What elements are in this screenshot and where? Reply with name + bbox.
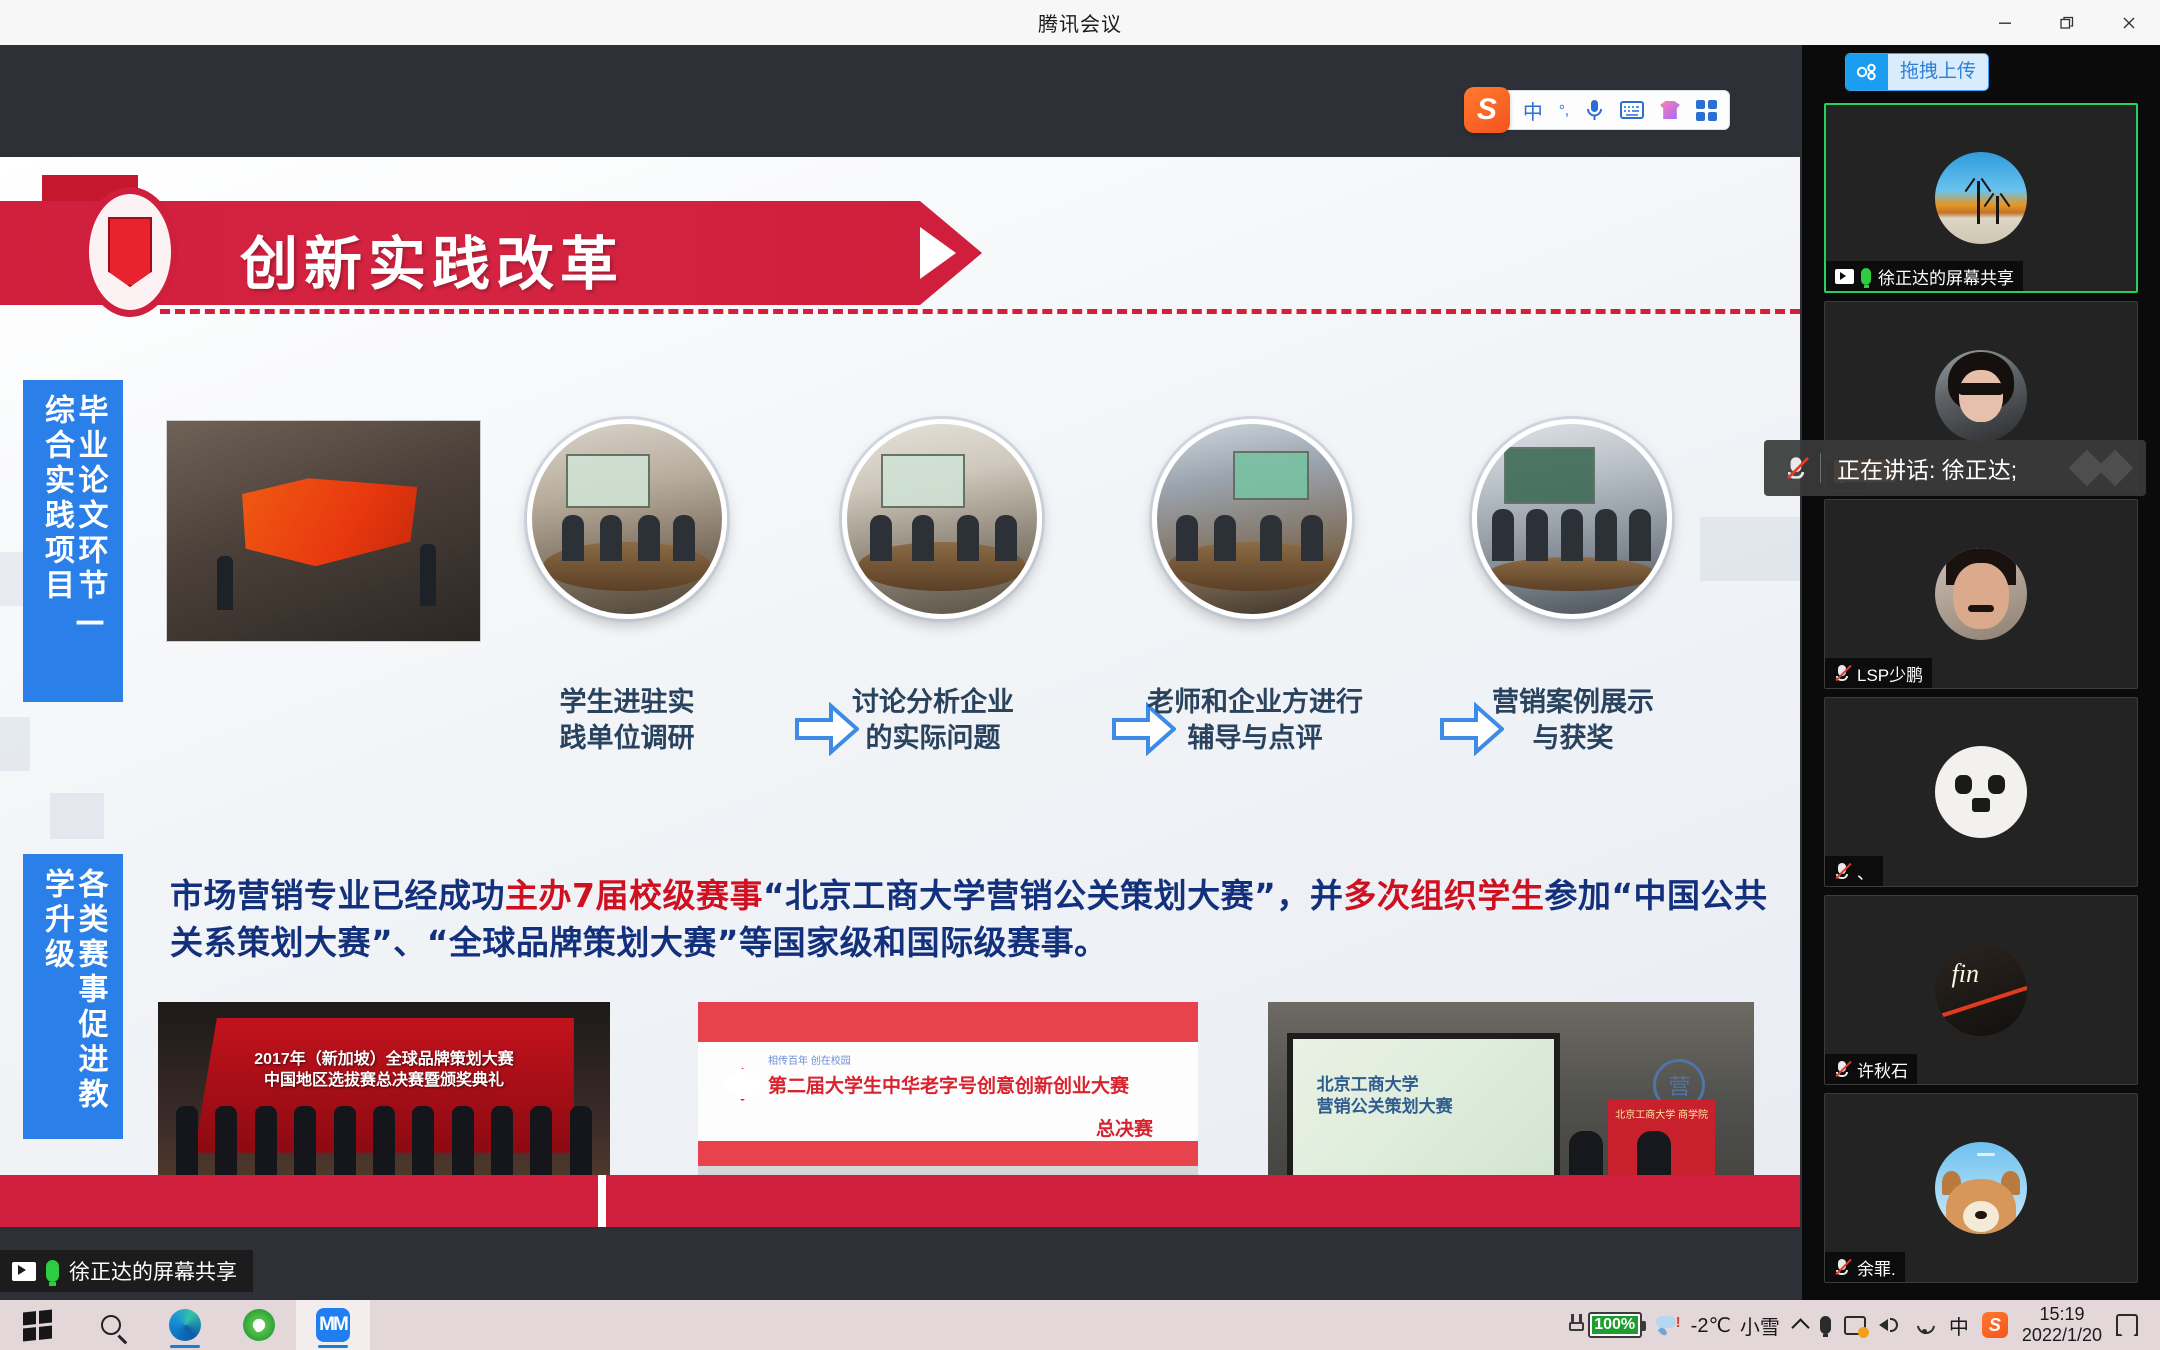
participant-nametag: LSP少鹏	[1825, 658, 1932, 688]
ime-punctuation-icon[interactable]: °,	[1559, 102, 1569, 119]
flow-step-3: 老师和企业方进行 辅导与点评	[1130, 685, 1380, 758]
edge-icon	[169, 1309, 201, 1341]
shared-screen-area[interactable]: 创新实践改革 毕业论文环节— 综合实践项目 各类赛事促进教 学升级	[0, 45, 1802, 1300]
participant-tile-5[interactable]: 余罪.	[1824, 1093, 2138, 1283]
flow-step-3-line1: 老师和企业方进行	[1130, 685, 1380, 721]
photo3-caption-line2: 营销公关策划大赛	[1317, 1096, 1453, 1118]
photo2-subtitle: 总决赛	[698, 1114, 1153, 1141]
start-button[interactable]	[0, 1300, 74, 1350]
sogou-logo-icon[interactable]: S	[1464, 87, 1510, 133]
participant-name: 许秋石	[1857, 1057, 1908, 1082]
window-title: 腾讯会议	[1038, 8, 1122, 37]
microphone-on-icon	[1861, 268, 1871, 285]
slide-footer-bar	[0, 1175, 1800, 1227]
search-button[interactable]	[74, 1300, 148, 1350]
sogou-tray-icon[interactable]: S	[1982, 1312, 2008, 1338]
flag-ceremony-photo	[166, 420, 481, 642]
battery-percent: 100%	[1594, 1316, 1635, 1334]
dashed-divider	[160, 309, 1800, 314]
circle-photo-3	[1152, 419, 1352, 619]
decor-tile	[0, 717, 30, 771]
participant-nametag: 余罪.	[1825, 1252, 1905, 1282]
close-button[interactable]	[2098, 0, 2160, 45]
photo1-caption-line2: 中国地区选拔赛总决赛暨颁奖典礼	[158, 1070, 610, 1092]
microphone-tray-icon[interactable]	[1820, 1316, 1831, 1334]
weather-description: 小雪	[1740, 1311, 1780, 1340]
ribbon-notch	[920, 227, 956, 279]
avatar	[1935, 152, 2027, 244]
circle-photo-4	[1472, 419, 1672, 619]
windows-taskbar[interactable]: MM 100% ! -2℃ 小雪	[0, 1300, 2160, 1350]
speaking-tooltip-text: 正在讲话: 徐正达;	[1837, 451, 2017, 485]
clock-date: 2022/1/20	[2022, 1325, 2102, 1346]
flow-step-1-line1: 学生进驻实	[522, 685, 732, 721]
microphone-muted-icon	[1834, 1258, 1850, 1276]
show-hidden-icons-icon[interactable]	[1791, 1318, 1809, 1336]
flow-step-4-line1: 营销案例展示	[1468, 685, 1678, 721]
ime-microphone-icon[interactable]	[1585, 99, 1604, 121]
battery-icon: 100%	[1588, 1312, 1642, 1338]
circle-photo-1	[527, 419, 727, 619]
flow-step-1: 学生进驻实 践单位调研	[522, 685, 732, 758]
taskbar-clock[interactable]: 15:19 2022/1/20	[2022, 1304, 2102, 1345]
screen-share-banner: 徐正达的屏幕共享	[0, 1250, 253, 1292]
microphone-muted-icon	[1834, 664, 1850, 682]
ime-apps-grid-icon[interactable]	[1696, 100, 1717, 121]
taskbar-app-microsoft-edge[interactable]	[148, 1300, 222, 1350]
weather-temperature: -2℃	[1691, 1313, 1731, 1338]
decor-tile	[1700, 517, 1800, 581]
ime-language-mode[interactable]: 中	[1523, 96, 1543, 125]
para-segment-1: 市场营销专业已经成功	[170, 876, 505, 915]
award-seal-icon	[82, 187, 178, 317]
avatar	[1935, 350, 2027, 442]
taskbar-app-internet-explorer[interactable]	[222, 1300, 296, 1350]
avatar	[1935, 1142, 2027, 1234]
slide-title: 创新实践改革	[240, 217, 624, 301]
microphone-muted-icon	[1785, 456, 1807, 480]
photo2-title: 第二届大学生中华老字号创意创新创业大赛	[768, 1071, 1129, 1098]
taskbar-app-tencent-meeting[interactable]: MM	[296, 1300, 370, 1350]
flow-step-4-line2: 与获奖	[1468, 721, 1678, 757]
participant-name: 徐正达的屏幕共享	[1878, 264, 2014, 289]
label-col-right: 毕业论文环节—	[74, 394, 106, 688]
audio-wave-icon	[2074, 455, 2128, 481]
screen-share-icon	[1835, 269, 1854, 284]
para-segment-2-red: 主办7届校级赛事	[505, 876, 763, 915]
drag-upload-label: 拖拽上传	[1888, 54, 1988, 90]
power-plug-icon	[1568, 1314, 1585, 1336]
microphone-muted-icon	[1834, 862, 1850, 880]
participant-name: 余罪.	[1857, 1255, 1896, 1280]
volume-icon[interactable]	[1879, 1315, 1901, 1335]
snow-cloud-icon: !	[1656, 1312, 1682, 1338]
flow-step-2-line2: 的实际问题	[828, 721, 1038, 757]
cloud-upload-icon	[1846, 54, 1888, 90]
minimize-button[interactable]	[1974, 0, 2036, 45]
system-tray[interactable]: 中 S	[1794, 1311, 2008, 1340]
window-titlebar: 腾讯会议	[0, 0, 2160, 45]
participant-name: LSP少鹏	[1857, 661, 1923, 686]
restore-button[interactable]	[2036, 0, 2098, 45]
avatar: fin	[1935, 944, 2027, 1036]
microphone-on-icon	[46, 1260, 59, 1282]
presentation-slide: 创新实践改革 毕业论文环节— 综合实践项目 各类赛事促进教 学升级	[0, 157, 1800, 1227]
flow-step-4: 营销案例展示 与获奖	[1468, 685, 1678, 758]
sogou-ime-toolbar[interactable]: S 中 °,	[1464, 87, 1730, 133]
ime-keyboard-icon[interactable]	[1620, 101, 1644, 119]
window-controls	[1974, 0, 2160, 45]
avatar	[1935, 746, 2027, 838]
participant-nametag: 许秋石	[1825, 1054, 1917, 1084]
clock-time: 15:19	[2022, 1304, 2102, 1325]
photo1-caption-line1: 2017年（新加坡）全球品牌策划大赛	[158, 1049, 610, 1071]
participant-name: 、	[1857, 859, 1874, 884]
label-col-right: 各类赛事促进教	[74, 868, 106, 1125]
tencent-meeting-icon: MM	[316, 1308, 350, 1342]
search-icon	[101, 1315, 121, 1335]
notification-center-icon[interactable]	[2116, 1314, 2138, 1336]
ime-language-indicator[interactable]: 中	[1949, 1311, 1969, 1340]
participant-tile-3[interactable]: 、	[1824, 697, 2138, 887]
meeting-body: 创新实践改革 毕业论文环节— 综合实践项目 各类赛事促进教 学升级	[0, 45, 2160, 1300]
speaking-tooltip: 正在讲话: 徐正达;	[1764, 440, 2146, 496]
participant-nametag: 、	[1825, 856, 1883, 886]
internet-explorer-icon	[243, 1309, 275, 1341]
microphone-muted-icon	[1834, 1060, 1850, 1078]
wifi-icon[interactable]	[1914, 1316, 1936, 1334]
para-segment-3: “北京工商大学营销公关策划大赛”，并	[763, 876, 1343, 915]
screen-share-tray-icon[interactable]	[1844, 1316, 1866, 1335]
tencent-meeting-window: 腾讯会议	[0, 0, 2160, 1350]
label-col-left: 学升级	[41, 868, 73, 1125]
avatar	[1935, 548, 2027, 640]
highlight-paragraph: 市场营销专业已经成功主办7届校级赛事“北京工商大学营销公关策划大赛”，并多次组织…	[170, 873, 1780, 967]
participant-tile-0[interactable]: 徐正达的屏幕共享	[1824, 103, 2138, 293]
windows-logo-icon	[23, 1309, 52, 1341]
photo2-kicker: 相传百年 创在校园	[768, 1052, 851, 1067]
photo3-caption-line1: 北京工商大学	[1317, 1074, 1453, 1096]
weather-widget[interactable]: ! -2℃ 小雪	[1656, 1311, 1780, 1340]
drag-upload-chip[interactable]: 拖拽上传	[1846, 54, 1988, 90]
participant-nametag: 徐正达的屏幕共享	[1826, 261, 2023, 291]
ime-skin-shirt-icon[interactable]	[1660, 101, 1680, 119]
para-segment-4-red: 多次组织学生	[1343, 876, 1544, 915]
flow-step-2-line1: 讨论分析企业	[828, 685, 1038, 721]
participants-rail[interactable]: 拖拽上传 徐正达的屏幕共享	[1802, 45, 2160, 1300]
screen-share-icon	[12, 1262, 36, 1281]
label-box-graduation: 毕业论文环节— 综合实践项目	[23, 380, 123, 702]
participant-tile-2[interactable]: LSP少鹏	[1824, 499, 2138, 689]
battery-indicator[interactable]: 100%	[1568, 1312, 1642, 1338]
participant-tile-4[interactable]: fin 许秋石	[1824, 895, 2138, 1085]
circle-photo-2	[842, 419, 1042, 619]
share-banner-label: 徐正达的屏幕共享	[69, 1256, 237, 1286]
flow-step-3-line2: 辅导与点评	[1130, 721, 1380, 757]
flow-step-1-line2: 践单位调研	[522, 721, 732, 757]
label-box-competitions: 各类赛事促进教 学升级	[23, 854, 123, 1139]
flow-step-2: 讨论分析企业 的实际问题	[828, 685, 1038, 758]
decor-tile	[50, 793, 104, 839]
label-col-left: 综合实践项目	[41, 394, 73, 688]
